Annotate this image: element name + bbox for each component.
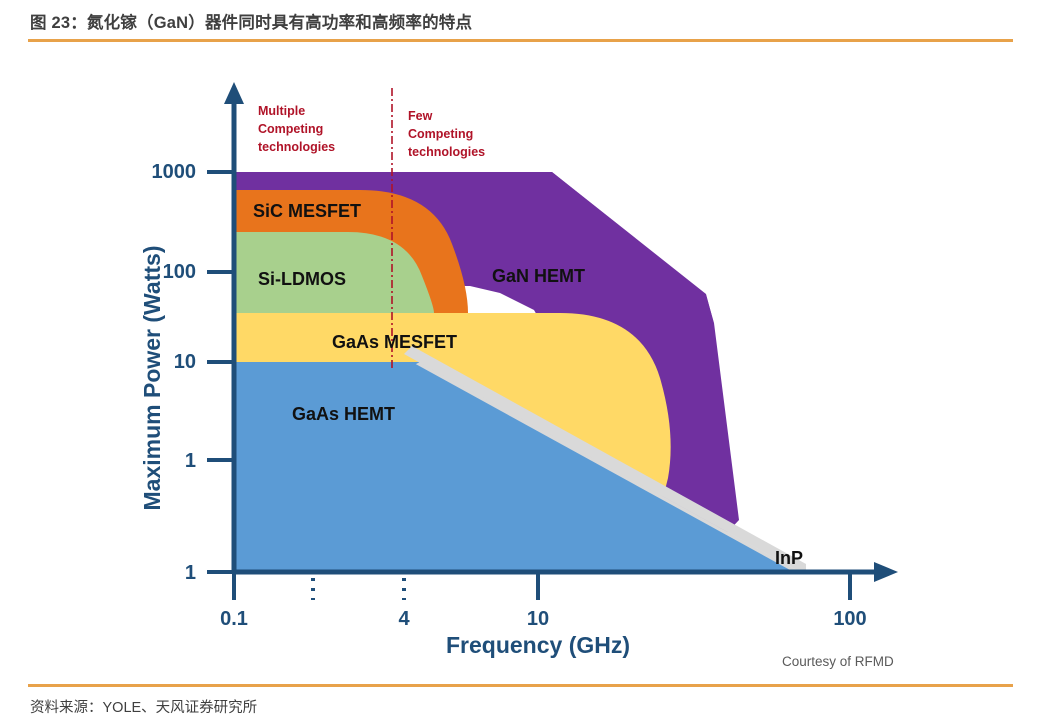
region-label-sic-mesfet: SiC MESFET: [253, 201, 361, 221]
region-label-si-ldmos: Si-LDMOS: [258, 269, 346, 289]
y-axis-arrowhead: [224, 82, 244, 104]
figure-header: 图 23：氮化镓（GaN）器件同时具有高功率和高频率的特点: [0, 0, 1041, 44]
annotation-few-line-3: technologies: [408, 145, 485, 159]
x-tick-label-10: 10: [527, 608, 549, 630]
x-tick-label-0-1: 0.1: [220, 608, 248, 630]
annotation-multiple-competing: Multiple Competing technologies: [258, 104, 335, 154]
page-title: 图 23：氮化镓（GaN）器件同时具有高功率和高频率的特点: [30, 9, 472, 33]
x-tick-label-4: 4: [398, 608, 410, 630]
x-axis-title: Frequency (GHz): [446, 632, 630, 658]
annotation-multiple-line-3: technologies: [258, 140, 335, 154]
region-label-gaas-mesfet: GaAs MESFET: [332, 332, 457, 352]
y-tick-label-100: 100: [163, 261, 196, 283]
header-divider-rule: [28, 39, 1013, 42]
y-axis-title: Maximum Power (Watts): [139, 246, 165, 511]
footer-divider-rule: [28, 684, 1013, 687]
region-label-gaas-hemt: GaAs HEMT: [292, 404, 395, 424]
x-axis-ticks: 0.1 4 10 100: [220, 572, 867, 630]
y-tick-label-10: 10: [174, 351, 196, 373]
chart-credit: Courtesy of RFMD: [782, 654, 894, 669]
region-label-inp: InP: [775, 548, 803, 568]
y-tick-label-1-lower: 1: [185, 562, 196, 584]
region-label-gan-hemt: GaN HEMT: [492, 266, 585, 286]
annotation-few-line-1: Few: [408, 109, 433, 123]
chart-container: 1000 100 10 1 1 0.1 4 10 100 Maximum Pow…: [0, 48, 1041, 680]
y-tick-label-1000: 1000: [152, 161, 197, 183]
y-tick-label-1-upper: 1: [185, 450, 196, 472]
x-axis-arrowhead: [874, 562, 898, 582]
annotation-few-competing: Few Competing technologies: [408, 109, 485, 159]
annotation-few-line-2: Competing: [408, 127, 473, 141]
x-tick-label-100: 100: [833, 608, 866, 630]
annotation-multiple-line-1: Multiple: [258, 104, 305, 118]
source-note: 资料来源：YOLE、天风证券研究所: [30, 696, 257, 717]
annotation-multiple-line-2: Competing: [258, 122, 323, 136]
device-technology-area-chart: 1000 100 10 1 1 0.1 4 10 100 Maximum Pow…: [0, 48, 1041, 680]
